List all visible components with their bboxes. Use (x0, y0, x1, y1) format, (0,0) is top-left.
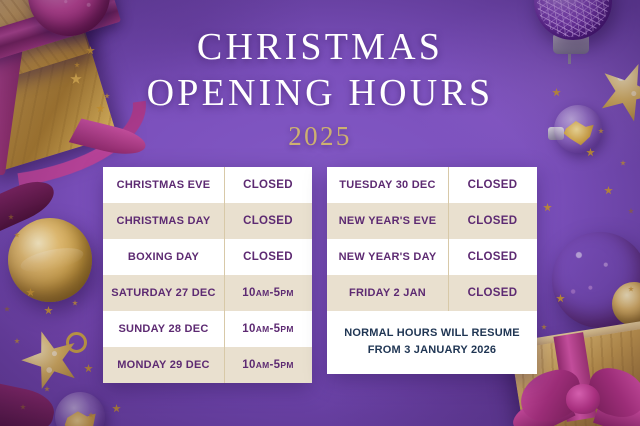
schedule-day-label: SATURDAY 27 DEC (103, 287, 224, 299)
table-row: NEW YEAR'S DAYCLOSED (327, 239, 537, 275)
table-row: CHRISTMAS EVECLOSED (103, 167, 312, 203)
column-divider (224, 311, 225, 347)
table-row: TUESDAY 30 DECCLOSED (327, 167, 537, 203)
schedule-hours-value: 10AM-5PM (224, 323, 312, 335)
schedule-day-label: NEW YEAR'S EVE (327, 215, 448, 227)
schedule-hours-value: CLOSED (448, 179, 537, 191)
table-row: BOXING DAYCLOSED (103, 239, 312, 275)
magenta-bow-knot-icon (566, 384, 600, 414)
resume-notice-line-2: FROM 3 JANUARY 2026 (337, 342, 527, 359)
table-row: MONDAY 29 DEC10AM-5PM (103, 347, 312, 383)
resume-date: 3 JANUARY 2026 (404, 344, 496, 356)
schedule-day-label: BOXING DAY (103, 251, 224, 263)
column-divider (448, 275, 449, 311)
gold-bauble-left-icon (8, 218, 92, 302)
schedule-hours-value: CLOSED (224, 251, 312, 263)
headline-year: 2025 (0, 121, 640, 152)
table-row: NEW YEAR'S EVECLOSED (327, 203, 537, 239)
column-divider (224, 167, 225, 203)
schedule-hours-value: CLOSED (448, 287, 537, 299)
column-divider (448, 239, 449, 275)
column-divider (448, 167, 449, 203)
schedule-day-label: MONDAY 29 DEC (103, 359, 224, 371)
schedule-table-right: TUESDAY 30 DECCLOSEDNEW YEAR'S EVECLOSED… (327, 167, 537, 374)
schedule-day-label: FRIDAY 2 JAN (327, 287, 448, 299)
schedule-hours-value: 10AM-5PM (224, 359, 312, 371)
christmas-opening-hours-poster: CHRISTMAS OPENING HOURS 2025 CHRISTMAS E… (0, 0, 640, 426)
table-row: SUNDAY 28 DEC10AM-5PM (103, 311, 312, 347)
schedule-hours-value: CLOSED (448, 215, 537, 227)
schedule-day-label: CHRISTMAS EVE (103, 179, 224, 191)
resume-notice: NORMAL HOURS WILL RESUMEFROM 3 JANUARY 2… (327, 311, 537, 374)
table-row: FRIDAY 2 JANCLOSED (327, 275, 537, 311)
table-row: SATURDAY 27 DEC10AM-5PM (103, 275, 312, 311)
schedule-hours-value: 10AM-5PM (224, 287, 312, 299)
page-title: CHRISTMAS OPENING HOURS 2025 (0, 24, 640, 152)
schedule-day-label: CHRISTMAS DAY (103, 215, 224, 227)
headline-line-2: OPENING HOURS (0, 70, 640, 116)
column-divider (448, 203, 449, 239)
headline-line-1: CHRISTMAS (0, 24, 640, 70)
column-divider (224, 239, 225, 275)
resume-notice-line-1: NORMAL HOURS WILL RESUME (337, 325, 527, 342)
schedule-hours-value: CLOSED (224, 179, 312, 191)
schedule-day-label: TUESDAY 30 DEC (327, 179, 448, 191)
schedule-day-label: SUNDAY 28 DEC (103, 323, 224, 335)
schedule-hours-value: CLOSED (224, 215, 312, 227)
column-divider (224, 347, 225, 383)
schedule-table-left: CHRISTMAS EVECLOSEDCHRISTMAS DAYCLOSEDBO… (103, 167, 312, 383)
schedule-hours-value: CLOSED (448, 251, 537, 263)
schedule-day-label: NEW YEAR'S DAY (327, 251, 448, 263)
table-row: CHRISTMAS DAYCLOSED (103, 203, 312, 239)
column-divider (224, 203, 225, 239)
column-divider (224, 275, 225, 311)
